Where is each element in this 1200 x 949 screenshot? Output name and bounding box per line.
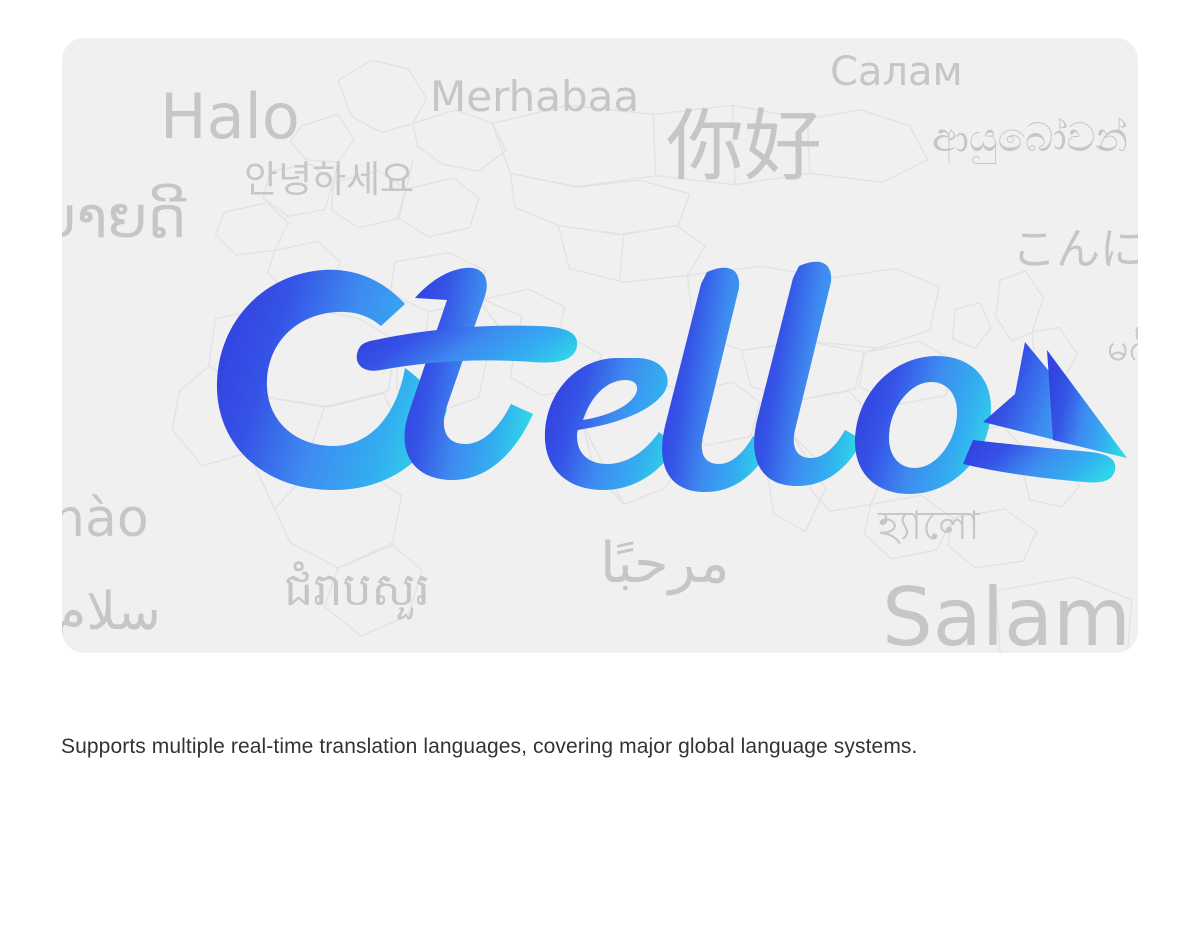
greeting-bengali: হ্যালো <box>878 506 980 546</box>
language-hero-card: ບາຍດີ Halo 안녕하세요 Merhabaa 你好 Салам ආයුබෝ… <box>62 38 1138 653</box>
greeting-arabic: مرحبًا <box>600 536 729 592</box>
greeting-japanese: こんにちは <box>1012 228 1138 272</box>
greeting-khmer: ជំរាបសួរ <box>284 566 430 612</box>
greeting-burmese: မင်္ဂလာပါ <box>1107 328 1138 366</box>
greeting-halo: Halo <box>160 86 300 148</box>
page-root: ບາຍດີ Halo 안녕하세요 Merhabaa 你好 Салам ආයුබෝ… <box>0 0 1200 949</box>
greeting-words-layer: ບາຍດີ Halo 안녕하세요 Merhabaa 你好 Салам ආයුබෝ… <box>62 38 1138 653</box>
greeting-turkish: Merhabaa <box>430 76 639 118</box>
hero-caption: Supports multiple real-time translation … <box>61 732 1141 762</box>
greeting-sinhala: ආයුබෝවන් <box>932 118 1128 158</box>
arrow-head <box>983 342 1119 456</box>
greeting-russian: Салам <box>830 52 963 92</box>
hello-wordmark <box>147 208 1138 498</box>
hello-letterforms <box>217 262 1127 494</box>
greeting-chinese: 你好 <box>666 108 822 186</box>
greeting-persian: سلام <box>62 586 161 638</box>
greeting-vietnamese: hào <box>62 493 149 545</box>
map-country-outlines <box>173 60 1138 653</box>
greeting-lao: ບາຍດີ <box>62 188 186 246</box>
greeting-malay: Salam <box>882 578 1131 653</box>
greeting-korean: 안녕하세요 <box>244 161 414 198</box>
world-map-background <box>62 38 1138 653</box>
